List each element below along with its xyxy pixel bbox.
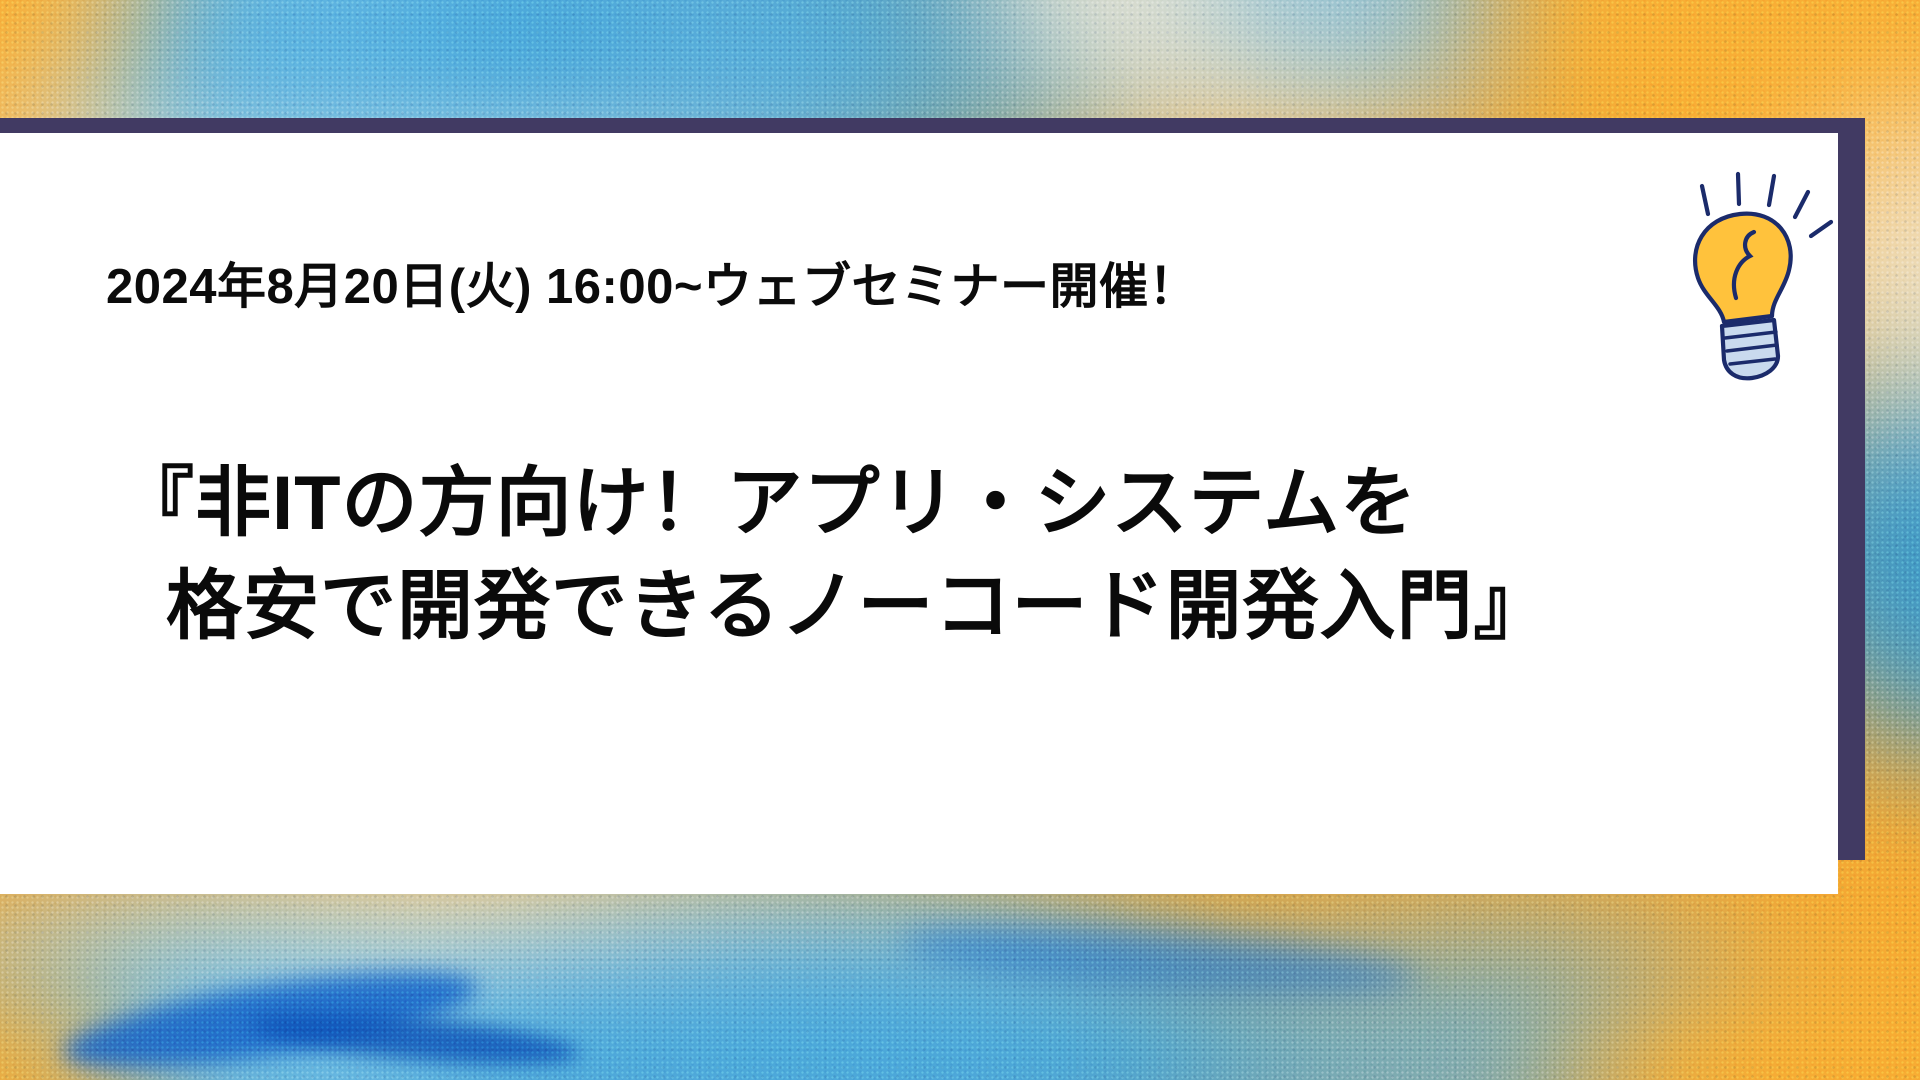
lightbulb-icon bbox=[1668, 170, 1858, 385]
title-line-2: 格安で開発できるノーコード開発入門』 bbox=[118, 555, 1550, 658]
lightbulb-glass bbox=[1695, 214, 1791, 322]
banner-canvas: 2024年8月20日(火) 16:00~ウェブセミナー開催！ 『非ITの方向け！… bbox=[0, 0, 1920, 1080]
title-line-1: 『非ITの方向け！アプリ・システムを bbox=[118, 461, 1417, 546]
event-kicker-text: 2024年8月20日(火) 16:00~ウェブセミナー開催！ bbox=[106, 263, 1198, 312]
page-title: 『非ITの方向け！アプリ・システムを 格安で開発できるノーコード開発入門』 bbox=[118, 452, 1550, 659]
